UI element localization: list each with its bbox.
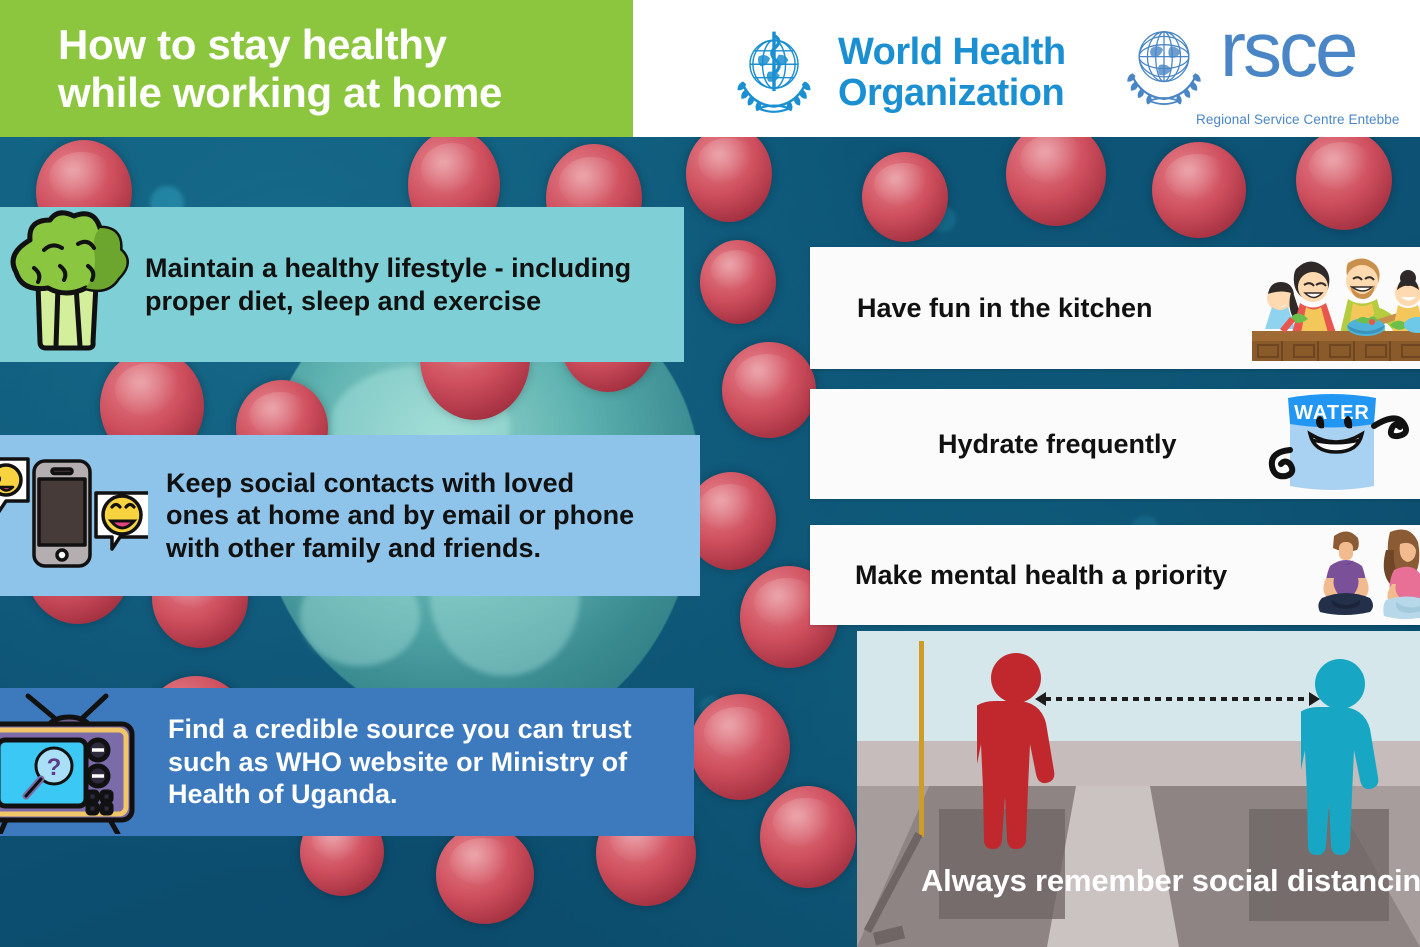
infographic-canvas: How to stay healthy while working at hom… [0, 0, 1420, 947]
page-title-line1: How to stay healthy [58, 21, 502, 68]
water-bottle-character-illustration: WATER [1264, 384, 1420, 499]
tip-panel-mental-health: Make mental health a priority [810, 525, 1420, 625]
who-line1: World Health [838, 32, 1066, 72]
who-wordmark: World Health Organization [838, 32, 1066, 113]
tip-panel-social-contacts: Keep social contacts with loved ones at … [0, 435, 700, 596]
page-title: How to stay healthy while working at hom… [0, 21, 502, 115]
distance-arrow-right-head [1309, 692, 1320, 706]
television-search-icon: ? [0, 686, 150, 839]
tip-panel-kitchen: Have fun in the kitchen [810, 247, 1420, 369]
rsce-wordmark: rsce [1220, 18, 1355, 82]
who-logo: World Health Organization [726, 22, 1066, 123]
who-emblem-icon [726, 22, 822, 123]
rsce-subtitle: Regional Service Centre Entebbe [1196, 112, 1399, 127]
person-figure-teal [1301, 659, 1379, 855]
street-pole [919, 641, 924, 837]
meditating-people-illustration [1306, 520, 1420, 625]
un-emblem-icon [1118, 18, 1210, 115]
rsce-logo: rsce [1118, 18, 1355, 115]
title-block: How to stay healthy while working at hom… [0, 0, 633, 137]
person-figure-red [977, 653, 1055, 849]
distance-dotted-line [1045, 697, 1311, 701]
tip-text-mental-health: Make mental health a priority [810, 560, 1227, 591]
tip-text-healthy-lifestyle: Maintain a healthy lifestyle - including… [135, 252, 635, 317]
svg-text:WATER: WATER [1294, 402, 1370, 424]
who-line2: Organization [838, 73, 1066, 113]
page-title-line2: while working at home [58, 69, 502, 116]
social-distancing-illustration: Always remember social distancing [857, 631, 1420, 947]
tip-text-kitchen: Have fun in the kitchen [810, 293, 1153, 324]
social-distancing-caption: Always remember social distancing [921, 863, 1420, 899]
header-bar: How to stay healthy while working at hom… [0, 0, 1420, 137]
tip-panel-healthy-lifestyle: Maintain a healthy lifestyle - including… [0, 207, 684, 362]
svg-text:?: ? [47, 754, 62, 781]
broccoli-icon [0, 210, 135, 360]
tip-text-hydrate: Hydrate frequently [810, 429, 1177, 460]
tip-panel-credible-source: ? Find a credible source you can trust s… [0, 688, 694, 836]
tip-text-credible-source: Find a credible source you can trust suc… [150, 713, 640, 810]
tip-panel-hydrate: Hydrate frequently WATER [810, 389, 1420, 499]
family-cooking-illustration [1252, 245, 1420, 366]
smartphone-chat-icon [0, 443, 148, 588]
tip-text-social-contacts: Keep social contacts with loved ones at … [148, 467, 638, 564]
